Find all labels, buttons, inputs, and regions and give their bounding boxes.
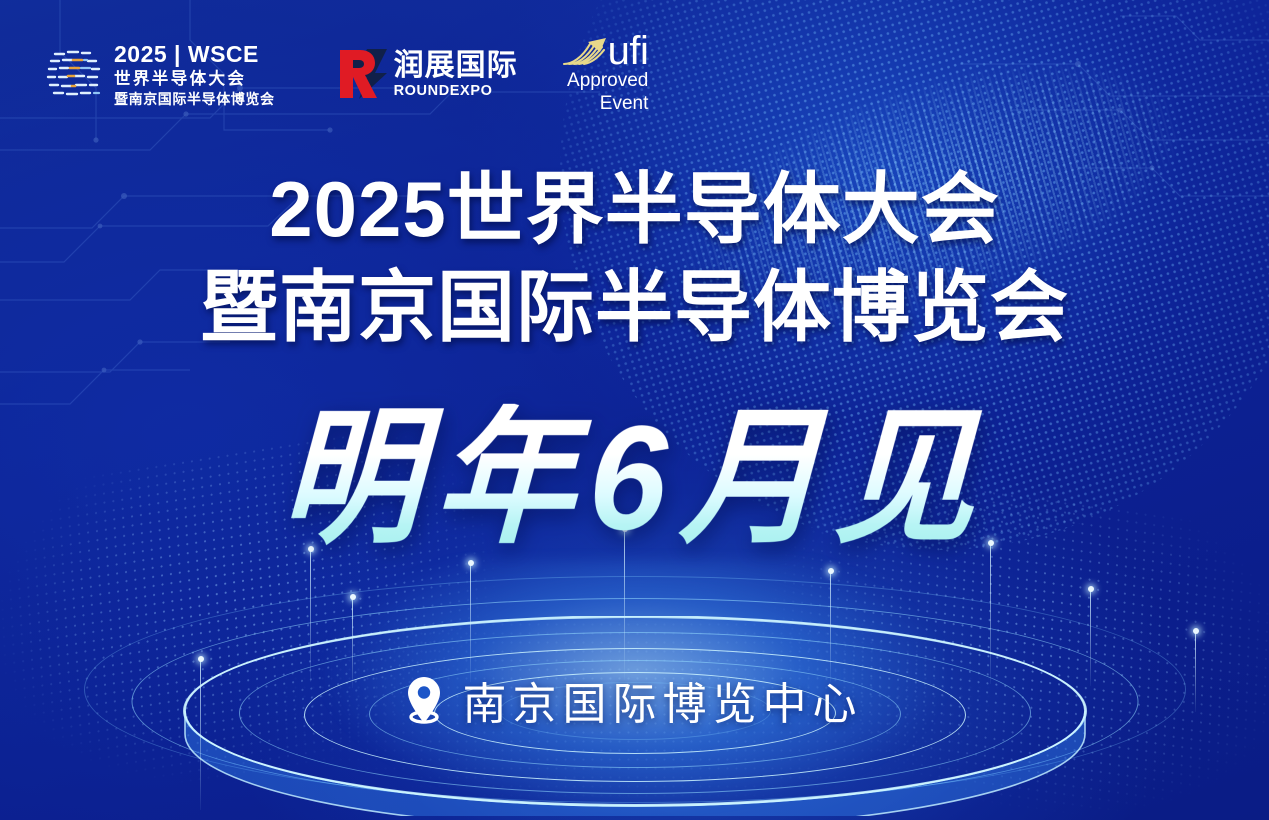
- light-beam: [990, 544, 991, 684]
- wsce-globe-mark: [42, 42, 104, 106]
- wsce-logo-line1: 2025 | WSCE: [114, 43, 275, 66]
- location-pin-icon: [407, 676, 441, 724]
- light-beam: [830, 572, 831, 682]
- venue-name: 南京国际博览中心: [463, 668, 863, 732]
- wsce-logo-line2: 世界半导体大会: [114, 71, 275, 88]
- light-beam: [470, 564, 471, 682]
- venue-block: 南京国际博览中心: [0, 668, 1269, 732]
- slogan-text: 明年6月见: [278, 404, 991, 552]
- ufi-swoosh-icon: [560, 34, 610, 68]
- wsce-logo-line3: 暨南京国际半导体博览会: [114, 92, 275, 106]
- slogan-block: 明年6月见: [0, 408, 1269, 548]
- poster-canvas: 2025 | WSCE 世界半导体大会 暨南京国际半导体博览会 润展国际 ROU…: [0, 0, 1269, 820]
- ufi-logo[interactable]: ufi Approved Event: [560, 34, 649, 115]
- wsce-logo[interactable]: 2025 | WSCE 世界半导体大会 暨南京国际半导体博览会: [42, 42, 275, 106]
- event-headline: 2025世界半导体大会 暨南京国际半导体博览会: [0, 160, 1269, 357]
- roundexpo-logo[interactable]: 润展国际 ROUNDEXPO: [337, 47, 518, 101]
- logo-bar: 2025 | WSCE 世界半导体大会 暨南京国际半导体博览会 润展国际 ROU…: [42, 34, 648, 115]
- ufi-subtitle-approved: Approved: [567, 70, 648, 91]
- roundexpo-english-name: ROUNDEXPO: [394, 84, 518, 99]
- headline-line-1: 2025世界半导体大会: [0, 160, 1269, 258]
- roundexpo-chinese-name: 润展国际: [394, 51, 518, 81]
- light-beam: [310, 550, 311, 682]
- headline-line-2: 暨南京国际半导体博览会: [0, 258, 1269, 356]
- ufi-subtitle-event: Event: [600, 93, 649, 114]
- ufi-wordmark: ufi: [608, 34, 649, 68]
- roundexpo-r-mark: [337, 47, 389, 101]
